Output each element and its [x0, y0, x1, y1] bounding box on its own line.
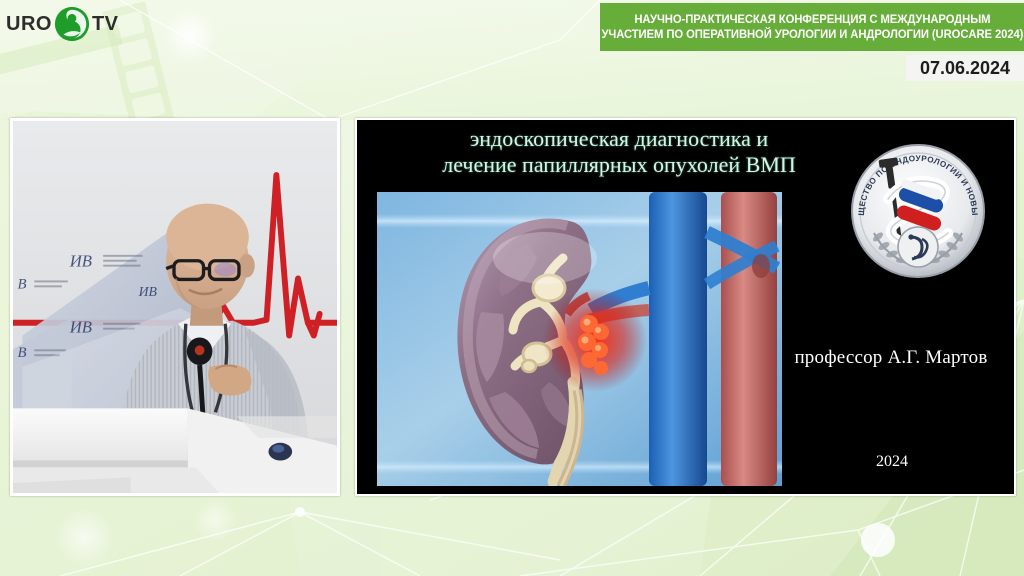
speaker-video-frame: ИВ ИВ ИВ В В: [13, 121, 337, 493]
endourology-society-emblem-icon: РОССИЙСКОЕ ОБЩЕСТВО ПО ЭНДОУРОЛОГИИ И НО…: [844, 137, 992, 285]
logo-text-uro: URO: [6, 13, 52, 36]
slide-presenter-name: профессор А.Г. Мартов: [777, 347, 1005, 369]
logo-text-tv: TV: [92, 13, 119, 36]
broadcast-date-box: 07.06.2024: [906, 55, 1024, 81]
channel-logo[interactable]: URO TV: [6, 2, 132, 46]
slide-title-line-1: эндоскопическая диагностика и: [385, 126, 853, 152]
uro-tv-leaf-circle-icon: [53, 5, 91, 43]
svg-text:ИВ: ИВ: [138, 284, 158, 299]
broadcast-date: 07.06.2024: [920, 58, 1010, 79]
slide-year: 2024: [827, 453, 957, 471]
top-header-strip: URO TV НАУЧНО-ПРАКТИЧЕСКАЯ КОНФЕРЕНЦИЯ С…: [0, 0, 1024, 118]
presentation-slide-panel[interactable]: эндоскопическая диагностика и лечение па…: [355, 118, 1016, 496]
svg-text:ИВ: ИВ: [69, 252, 92, 271]
conference-title-banner: НАУЧНО-ПРАКТИЧЕСКАЯ КОНФЕРЕНЦИЯ С МЕЖДУН…: [600, 3, 1024, 51]
slide-title-line-2: лечение папиллярных опухолей ВМП: [385, 152, 853, 178]
svg-text:В: В: [18, 345, 27, 361]
svg-text:В: В: [18, 276, 27, 292]
conference-title-line-2: УЧАСТИЕМ ПО ОПЕРАТИВНОЙ УРОЛОГИИ И АНДРО…: [601, 27, 1023, 42]
conference-title-line-1: НАУЧНО-ПРАКТИЧЕСКАЯ КОНФЕРЕНЦИЯ С МЕЖДУН…: [634, 12, 990, 27]
kidney-tumor-illustration: [377, 192, 782, 486]
svg-text:ИВ: ИВ: [69, 318, 92, 337]
slide-title: эндоскопическая диагностика и лечение па…: [385, 126, 853, 178]
speaker-video-panel[interactable]: ИВ ИВ ИВ В В: [10, 118, 340, 496]
slide-content: эндоскопическая диагностика и лечение па…: [357, 120, 1014, 494]
